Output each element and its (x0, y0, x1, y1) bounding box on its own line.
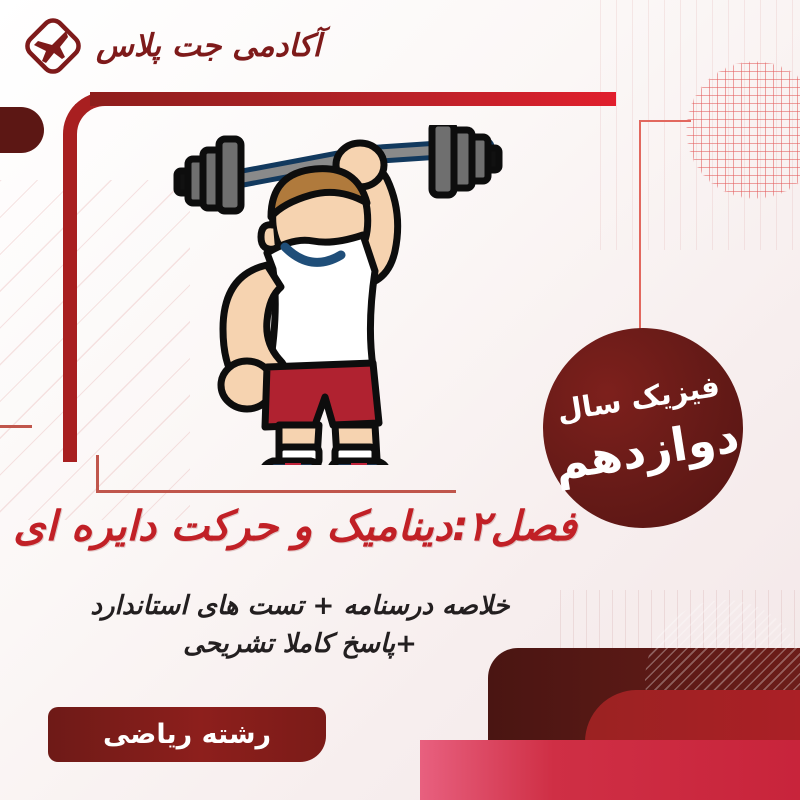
thin-frame-line-horizontal (639, 120, 691, 122)
subtitle-line-1: خلاصه درسنامه + تست های استاندارد (0, 588, 600, 626)
field-of-study-banner[interactable]: رشته ریاضی (48, 707, 326, 762)
cartoon-weightlifter-icon (155, 125, 525, 465)
left-tab-decor (0, 107, 44, 153)
brand-logo[interactable]: آکادمی جت پلاس (22, 8, 322, 83)
left-edge-accent-line (0, 425, 32, 428)
jet-plane-diamond-icon (22, 15, 84, 77)
poster-canvas: فیزیک سال دوازدهم آکادمی جت پلاس فصل۲:دی… (0, 0, 800, 800)
brand-logo-text: آکادمی جت پلاس (96, 28, 321, 64)
photo-frame-vertical-bar (63, 200, 77, 462)
photo-frame-top-bar (90, 92, 615, 106)
field-of-study-label: رشته ریاضی (103, 719, 271, 750)
thin-frame-line-vertical (639, 120, 641, 338)
inner-corner-line-horizontal (96, 490, 456, 493)
page-title: فصل۲:دینامیک و حرکت دایره ای (0, 503, 590, 550)
bottom-right-pink-band (420, 740, 800, 800)
